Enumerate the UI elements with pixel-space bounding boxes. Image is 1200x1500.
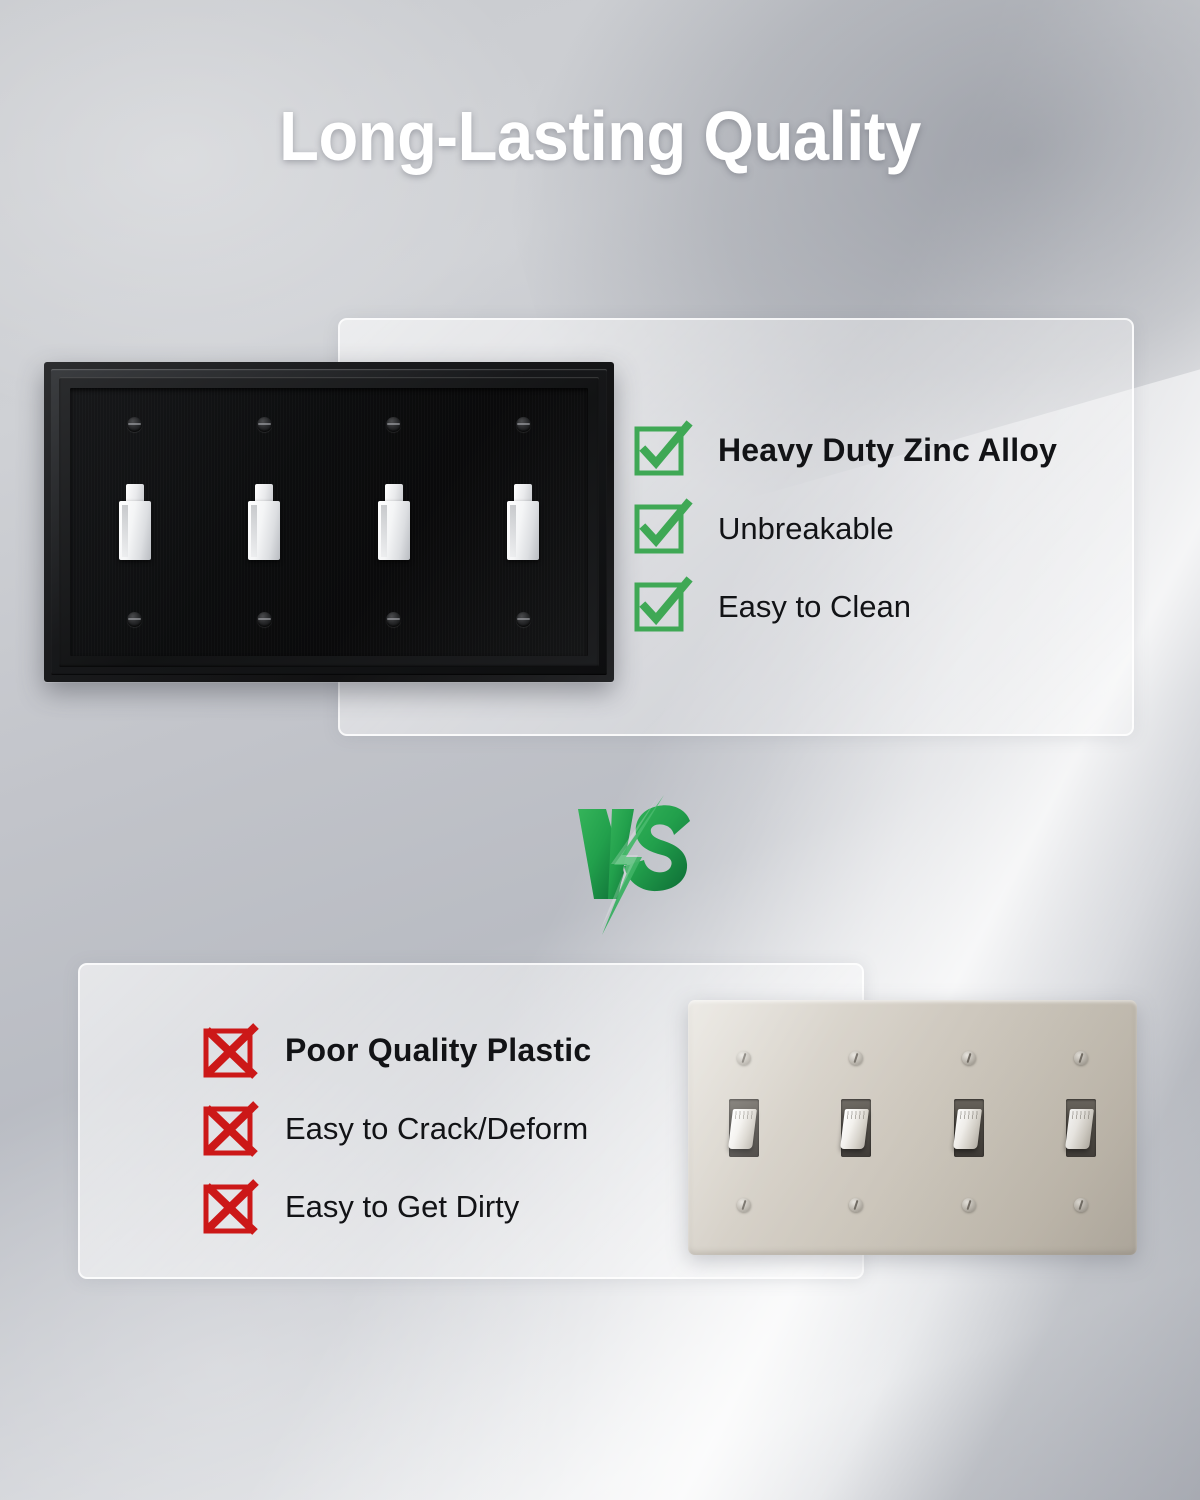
list-item: Easy to Get Dirty (203, 1178, 591, 1234)
list-item: Easy to Crack/Deform (203, 1100, 591, 1156)
screw-icon (257, 612, 272, 627)
green-check-box-icon (634, 502, 686, 554)
black-metal-wall-plate-image (44, 362, 614, 682)
ivory-plastic-wall-plate-image (688, 1000, 1137, 1255)
plate-gang-4 (459, 388, 589, 656)
list-item-label: Unbreakable (718, 513, 894, 544)
plate-center-field (70, 388, 588, 656)
screw-icon (257, 417, 272, 432)
list-item: Heavy Duty Zinc Alloy (634, 422, 1057, 478)
good-feature-list: Heavy Duty Zinc Alloy Unbreakable Easy t… (634, 422, 1057, 634)
screw-icon (386, 612, 401, 627)
list-item-label: Poor Quality Plastic (285, 1034, 591, 1066)
screw-icon (386, 417, 401, 432)
green-check-box-icon (634, 424, 686, 476)
plate-gang-3 (329, 388, 459, 656)
plate-specular-sheen (688, 1000, 1137, 1255)
toggle-switch[interactable] (378, 484, 410, 560)
toggle-switch[interactable] (248, 484, 280, 560)
bad-feature-list: Poor Quality Plastic Easy to Crack/Defor… (203, 1022, 591, 1234)
versus-badge (572, 795, 702, 935)
plate-gang-1 (70, 388, 200, 656)
red-x-box-icon (203, 1024, 255, 1076)
list-item-label: Heavy Duty Zinc Alloy (718, 434, 1057, 466)
list-item: Unbreakable (634, 500, 1057, 556)
screw-icon (516, 612, 531, 627)
page-title: Long-Lasting Quality (42, 96, 1158, 176)
list-item-label: Easy to Get Dirty (285, 1191, 519, 1222)
list-item: Easy to Clean (634, 578, 1057, 634)
list-item-label: Easy to Crack/Deform (285, 1113, 588, 1144)
list-item: Poor Quality Plastic (203, 1022, 591, 1078)
screw-icon (516, 417, 531, 432)
red-x-box-icon (203, 1102, 255, 1154)
infographic-canvas: Long-Lasting Quality (0, 0, 1200, 1500)
screw-icon (127, 417, 142, 432)
toggle-switch[interactable] (119, 484, 151, 560)
plate-gang-2 (200, 388, 330, 656)
green-check-box-icon (634, 580, 686, 632)
red-x-box-icon (203, 1180, 255, 1232)
screw-icon (127, 612, 142, 627)
toggle-switch[interactable] (507, 484, 539, 560)
list-item-label: Easy to Clean (718, 591, 911, 622)
